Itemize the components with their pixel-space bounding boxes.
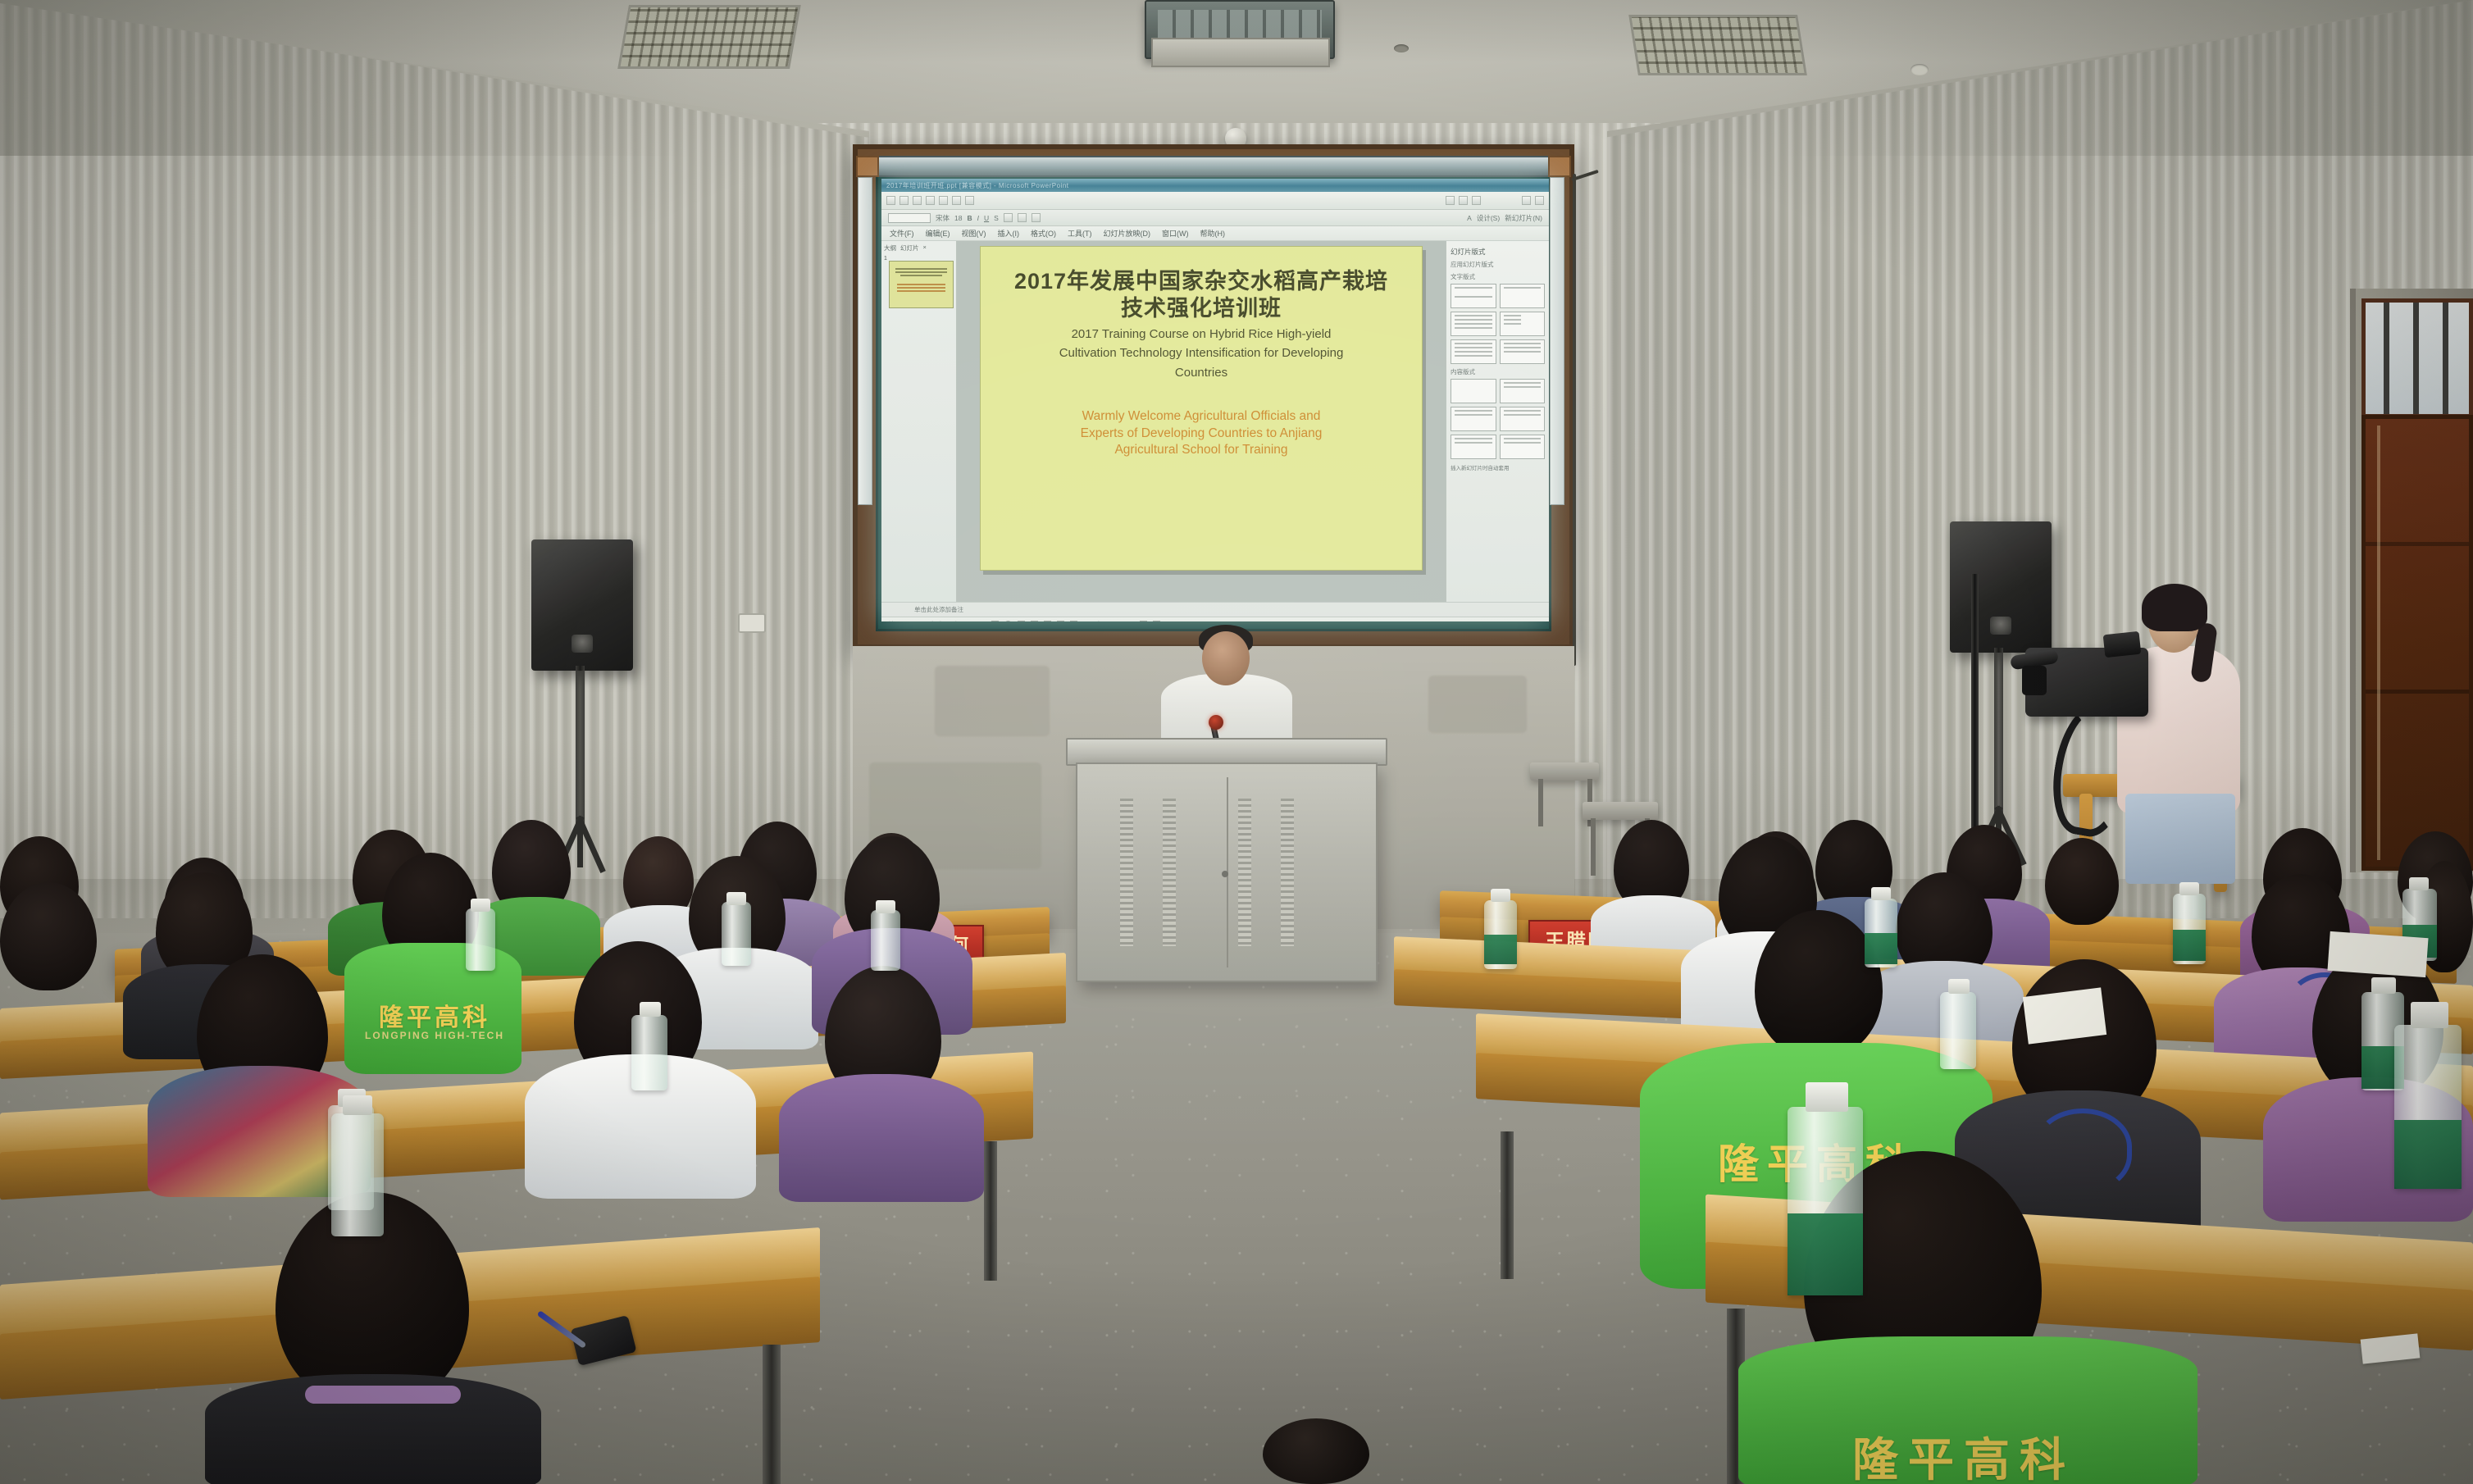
diagram-icon[interactable]	[1044, 621, 1051, 621]
paper-sheet	[2327, 931, 2428, 977]
slide-subtitle-en-line2: Cultivation Technology Intensification f…	[999, 345, 1404, 362]
tripod-leg	[577, 817, 583, 867]
layout-option-title[interactable]	[1451, 284, 1496, 308]
draw-menu-button[interactable]: 绘图(R)	[888, 620, 912, 622]
projected-powerpoint-window: 2017年培训班开班.ppt [兼容模式] - Microsoft PowerP…	[881, 179, 1549, 621]
bottle-cap	[1806, 1082, 1848, 1112]
slide-canvas[interactable]: 2017年发展中国家杂交水稻高产栽培 技术强化培训班 2017 Training…	[980, 246, 1423, 571]
menu-tools[interactable]: 工具(T)	[1068, 228, 1092, 239]
lecture-hall-photo: 2017年培训班开班.ppt [兼容模式] - Microsoft PowerP…	[0, 0, 2473, 1484]
align-left-icon[interactable]	[1004, 213, 1013, 222]
metal-stool	[1530, 762, 1599, 781]
desk-leg	[763, 1345, 781, 1484]
water-bottle	[466, 908, 495, 971]
underline-icon[interactable]: U	[984, 214, 989, 222]
arrow-icon[interactable]: ↘	[980, 620, 986, 621]
screen-roller-end-left	[856, 156, 879, 177]
menu-slideshow[interactable]: 幻灯片放映(D)	[1104, 228, 1151, 239]
bottle-cap	[1948, 979, 1970, 994]
recessed-grid-light	[617, 5, 801, 69]
layout-option-blank[interactable]	[1451, 379, 1496, 403]
slide-title-zh-line2: 技术强化培训班	[999, 295, 1404, 322]
slide-title-zh-line1: 2017年发展中国家杂交水稻高产栽培	[999, 268, 1404, 295]
print-icon[interactable]	[926, 196, 935, 205]
camcorder-viewfinder	[2103, 631, 2142, 658]
text-layouts-label: 文字版式	[1451, 272, 1545, 281]
water-bottle	[871, 910, 900, 971]
ppt-drawing-toolbar[interactable]: 绘图(R) ↖ 自选图形(U) \ ↘ ◇ ∠ A ≡ ⋯	[881, 617, 1549, 621]
insert-new-slide-label: 插入新幻灯片时自动套用	[1451, 463, 1545, 471]
oval-icon[interactable]	[1004, 621, 1012, 621]
layout-option-two-column[interactable]	[1500, 312, 1546, 336]
bottle-label	[1865, 933, 1897, 964]
tab-slides[interactable]: 幻灯片	[900, 244, 919, 253]
water-bottle	[631, 1015, 667, 1090]
dash-style-icon[interactable]: ⋯	[1127, 620, 1134, 621]
stool-leg	[1538, 779, 1543, 826]
videographer-jeans	[2125, 794, 2235, 884]
slide-subtitle-en-line3: Countries	[999, 365, 1404, 381]
hair-band	[305, 1386, 461, 1404]
menu-format[interactable]: 格式(O)	[1031, 228, 1056, 239]
bottle-label	[2173, 930, 2206, 961]
smoke-detector	[1394, 44, 1409, 52]
preview-icon[interactable]	[939, 196, 948, 205]
tab-outline[interactable]: 大纲	[884, 244, 896, 253]
screen-side-strip-left	[858, 177, 872, 505]
slide-subtitle-en-line1: 2017 Training Course on Hybrid Rice High…	[999, 326, 1404, 343]
slide-welcome-line2: Experts of Developing Countries to Anjia…	[999, 426, 1404, 442]
attendee-head	[1263, 1418, 1369, 1484]
attendee-head	[0, 882, 97, 990]
recessed-grid-light	[1628, 15, 1807, 75]
wall-stain	[935, 666, 1050, 736]
pa-speaker	[1950, 521, 2052, 653]
new-slide-button[interactable]: 新幻灯片(N)	[1505, 213, 1542, 223]
font-color-icon[interactable]: A	[1106, 621, 1111, 622]
bottle-cap	[1491, 889, 1510, 902]
shadow-style-icon[interactable]	[1140, 621, 1147, 621]
ppt-standard-toolbar[interactable]	[881, 192, 1549, 210]
clipart-icon[interactable]	[1070, 621, 1077, 621]
ppt-formatting-toolbar[interactable]: 宋体 18 B I U S A 设计(S) 新幻灯片(N)	[881, 210, 1549, 226]
content-layouts-label: 内容版式	[1451, 367, 1545, 376]
wall-stain	[1428, 676, 1527, 733]
menu-help[interactable]: 帮助(H)	[1200, 228, 1226, 239]
close-icon[interactable]: ×	[923, 244, 927, 253]
menu-file[interactable]: 文件(F)	[890, 228, 914, 239]
bottle-cap	[726, 892, 746, 905]
polo-logo-en: LONGPING HIGH-TECH	[358, 1030, 512, 1041]
desk-leg	[984, 1141, 997, 1281]
door-transom-window	[2361, 298, 2473, 418]
ppt-slide-layout-task-pane[interactable]: 幻灯片版式 应用幻灯片版式 文字版式 内容版式	[1446, 241, 1549, 602]
ppt-notes-placeholder[interactable]: 单击此处添加备注	[881, 602, 1549, 617]
layout-option-blank-text[interactable]	[1500, 339, 1546, 364]
ppt-title-bar: 2017年培训班开班.ppt [兼容模式] - Microsoft PowerP…	[881, 179, 1549, 192]
speaker-tripod	[576, 666, 585, 830]
bottle-cap	[1871, 887, 1891, 900]
polo-logo-zh: 隆平高科	[1788, 1423, 2140, 1484]
wall-power-outlet[interactable]	[738, 613, 766, 633]
shadow-icon[interactable]: S	[994, 214, 999, 222]
layout-option-two-content[interactable]	[1500, 407, 1546, 431]
slide-welcome-line1: Warmly Welcome Agricultural Officials an…	[999, 408, 1404, 425]
screen-power-cable	[1573, 174, 1576, 666]
videographer-hair	[2142, 584, 2207, 631]
autoshapes-button[interactable]: 自选图形(U)	[929, 620, 967, 622]
line-style-icon[interactable]: ≡	[1117, 621, 1121, 622]
font-color-icon[interactable]: A	[1467, 214, 1472, 222]
undo-icon[interactable]	[1472, 196, 1481, 205]
bottle-label	[2394, 1120, 2462, 1189]
lectern	[1076, 762, 1378, 982]
lectern-top	[1066, 738, 1387, 766]
bottle-cap	[471, 899, 490, 912]
attendee-torso	[779, 1074, 984, 1202]
bottle-label	[1788, 1213, 1863, 1295]
ppt-slide-stage: 2017年发展中国家杂交水稻高产栽培 技术强化培训班 2017 Training…	[957, 241, 1446, 602]
layout-option-content[interactable]	[1500, 379, 1546, 403]
design-button[interactable]: 设计(S)	[1477, 213, 1500, 223]
cut-icon[interactable]	[965, 196, 974, 205]
wordart-icon[interactable]	[1031, 621, 1038, 621]
speaker-tripod	[1994, 648, 2003, 822]
menu-window[interactable]: 窗口(W)	[1162, 228, 1189, 239]
insert-picture-icon[interactable]	[1057, 621, 1064, 621]
layout-option-mixed-content[interactable]	[1500, 435, 1546, 459]
select-arrow-icon[interactable]: ↖	[918, 620, 923, 621]
water-bottle	[1940, 992, 1976, 1069]
fill-color-icon[interactable]: ◇	[1083, 620, 1089, 621]
water-bottle	[722, 902, 751, 966]
layout-option-table[interactable]	[1451, 339, 1496, 364]
rectangle-icon[interactable]	[991, 621, 999, 621]
stool-leg	[1591, 818, 1596, 876]
ppt-title-text: 2017年培训班开班.ppt [兼容模式] - Microsoft PowerP…	[886, 181, 1069, 190]
layout-option-four-content[interactable]	[1451, 435, 1496, 459]
screen-side-strip-right	[1550, 177, 1564, 505]
attendee-head	[2045, 838, 2119, 925]
spell-icon[interactable]	[952, 196, 961, 205]
desk-leg	[1501, 1131, 1514, 1279]
slide-thumb-number: 1	[884, 256, 887, 262]
screen-roller	[866, 156, 1561, 177]
menu-insert[interactable]: 插入(I)	[998, 228, 1020, 239]
microphone-indicator-light	[1209, 715, 1223, 730]
open-icon[interactable]	[899, 196, 909, 205]
bottle-cap	[640, 1002, 661, 1017]
bottle-cap	[2371, 977, 2396, 994]
layout-option-title-only[interactable]	[1500, 284, 1546, 308]
bold-icon[interactable]: B	[967, 214, 972, 222]
metal-stool	[1583, 802, 1658, 820]
pa-speaker	[531, 539, 633, 671]
id-lanyard	[2034, 1108, 2132, 1194]
bottle-cap	[2411, 1002, 2448, 1028]
menu-edit[interactable]: 编辑(E)	[926, 228, 950, 239]
bottle-label	[1484, 935, 1517, 964]
ppt-workspace: 大纲 幻灯片 × 1 2017年发展中国家杂交水稻高产栽培 技术强化培训班	[881, 241, 1549, 602]
bottle-cap	[343, 1095, 372, 1115]
bottle-cap	[2179, 882, 2199, 895]
polo-logo-zh: 隆平高科	[361, 997, 508, 1033]
align-center-icon[interactable]	[1018, 213, 1027, 222]
slide-welcome-line3: Agricultural School for Training	[999, 442, 1404, 458]
ppt-menu-bar[interactable]: 文件(F) 编辑(E) 视图(V) 插入(I) 格式(O) 工具(T) 幻灯片放…	[881, 226, 1549, 241]
italic-icon[interactable]: I	[977, 214, 979, 222]
slide-thumbnail[interactable]	[889, 261, 954, 308]
line-icon[interactable]: \	[972, 621, 974, 622]
textbox-icon[interactable]	[1018, 621, 1025, 621]
ppt-outline-pane[interactable]: 大纲 幻灯片 × 1	[881, 241, 957, 602]
save-icon[interactable]	[913, 196, 922, 205]
3d-style-icon[interactable]	[1153, 621, 1160, 621]
new-icon[interactable]	[886, 196, 895, 205]
bottle-cap	[2409, 877, 2429, 890]
smoke-detector	[1911, 64, 1929, 75]
layout-option-title-text[interactable]	[1451, 312, 1496, 336]
table-icon[interactable]	[1446, 196, 1455, 205]
screen-roller-end-right	[1548, 156, 1571, 177]
zoom-icon[interactable]	[1522, 196, 1531, 205]
presenter-head	[1202, 631, 1250, 685]
ceiling-air-vent	[1151, 38, 1330, 67]
font-size-value[interactable]: 18	[954, 214, 962, 222]
menu-view[interactable]: 视图(V)	[962, 228, 986, 239]
align-right-icon[interactable]	[1032, 213, 1041, 222]
lectern-door-knob[interactable]	[1222, 871, 1228, 877]
water-bottle	[331, 1113, 384, 1236]
paper-sheet	[2023, 987, 2106, 1044]
chart-icon[interactable]	[1459, 196, 1468, 205]
layout-option-title-content[interactable]	[1451, 407, 1496, 431]
line-color-icon[interactable]: ∠	[1095, 620, 1101, 621]
help-icon[interactable]	[1535, 196, 1544, 205]
apply-layout-label: 应用幻灯片版式	[1451, 260, 1545, 269]
font-name-value[interactable]: 宋体	[936, 213, 950, 223]
camcorder-lens	[2022, 666, 2047, 695]
bottle-cap	[876, 900, 895, 913]
task-pane-title: 幻灯片版式	[1451, 247, 1545, 257]
rear-door[interactable]	[2361, 415, 2473, 871]
